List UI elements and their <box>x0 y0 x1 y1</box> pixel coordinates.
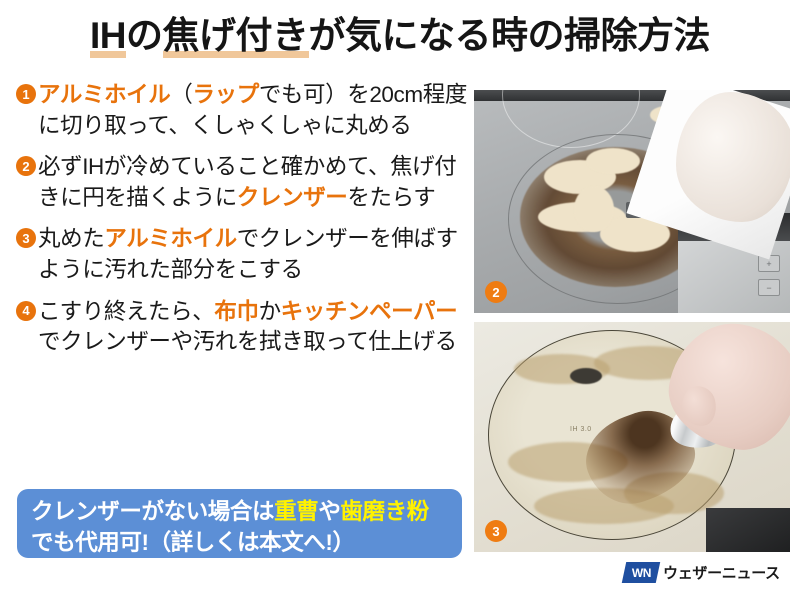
tip-callout-box: クレンザーがない場合は重曹や歯磨き粉でも代用可!（詳しくは本文へ!） <box>17 489 462 558</box>
page-title-highlight-ih: IH <box>90 17 126 54</box>
photo-scrubbing-with-foil: IH 3.0 3 <box>474 322 790 552</box>
step-badge-1: 1 <box>16 84 36 104</box>
step-keyword-cleanser: クレンザー <box>237 185 348 210</box>
step-keyword-aluminum-foil: アルミホイル <box>38 82 170 107</box>
wn-logo-text: WN <box>632 566 651 580</box>
cleanser-powder <box>586 148 640 174</box>
step-text-paren-open: （ <box>170 82 192 107</box>
control-panel-dark <box>706 508 790 552</box>
page-title: IHの焦げ付きが気になる時の掃除方法 <box>0 4 800 66</box>
step-text-4: こすり終えたら、布巾かキッチンペーパーでクレンザーや汚れを拭き取って仕上げる <box>38 297 468 358</box>
tip-keyword-toothpaste: 歯磨き粉 <box>340 499 428 524</box>
brand-name: ウェザーニュース <box>663 562 780 583</box>
page-title-highlight-kogetsuki: 焦げ付き <box>163 17 309 54</box>
page-title-seg4: が気になる時の掃除方法 <box>309 15 711 56</box>
photo-cleanser-on-cooktop: + − 2 <box>474 90 790 313</box>
photo-badge-3: 3 <box>485 520 507 542</box>
photo-badge-2: 2 <box>485 281 507 303</box>
list-item: 4 こすり終えたら、布巾かキッチンペーパーでクレンザーや汚れを拭き取って仕上げる <box>16 297 468 358</box>
tip-text-ya: や <box>318 499 340 524</box>
step-text-3: 丸めたアルミホイルでクレンザーを伸ばすように汚れた部分をこする <box>38 224 468 285</box>
list-item: 3 丸めたアルミホイルでクレンザーを伸ばすように汚れた部分をこする <box>16 224 468 285</box>
step-text-ka: か <box>259 299 281 324</box>
step-text-rest-4: でクレンザーや汚れを拭き取って仕上げる <box>38 329 457 354</box>
step-text-rest-2: をたらす <box>347 185 435 210</box>
dark-speck <box>570 368 602 384</box>
step-text-2: 必ずIHが冷めていること確かめて、焦げ付きに円を描くようにクレンザーをたらす <box>38 152 468 213</box>
list-item: 1 アルミホイル（ラップでも可）を20cm程度に切り取って、くしゃくしゃに丸める <box>16 80 468 141</box>
step-badge-4: 4 <box>16 301 36 321</box>
tip-text-lead: クレンザーがない場合は <box>31 499 274 524</box>
brand-logo[interactable]: WN ウェザーニュース <box>624 562 780 583</box>
tip-keyword-baking-soda: 重曹 <box>274 499 318 524</box>
step-keyword-cloth: 布巾 <box>214 299 258 324</box>
step-keyword-kitchen-paper: キッチンペーパー <box>281 299 458 324</box>
page-title-seg2: の <box>126 15 163 56</box>
list-item: 2 必ずIHが冷めていること確かめて、焦げ付きに円を描くようにクレンザーをたらす <box>16 152 468 213</box>
step-text-lead-4: こすり終えたら、 <box>38 299 214 324</box>
steps-list: 1 アルミホイル（ラップでも可）を20cm程度に切り取って、くしゃくしゃに丸める… <box>16 80 468 369</box>
control-panel: + − <box>678 241 790 313</box>
gloved-hand <box>676 92 790 222</box>
step-badge-3: 3 <box>16 228 36 248</box>
cleanser-powder <box>574 186 614 232</box>
wn-logo-mark: WN <box>622 562 660 583</box>
tip-callout-text: クレンザーがない場合は重曹や歯磨き粉でも代用可!（詳しくは本文へ!） <box>31 496 448 558</box>
step-keyword-aluminum-foil-2: アルミホイル <box>104 226 236 251</box>
step-text-1: アルミホイル（ラップでも可）を20cm程度に切り取って、くしゃくしゃに丸める <box>38 80 468 141</box>
step-keyword-wrap: ラップ <box>193 82 259 107</box>
step-text-lead-3: 丸めた <box>38 226 104 251</box>
tip-text-rest: でも代用可!（詳しくは本文へ!） <box>31 530 355 555</box>
step-badge-2: 2 <box>16 156 36 176</box>
surface-stamp-text: IH 3.0 <box>570 426 592 433</box>
minus-button[interactable]: − <box>758 279 780 296</box>
